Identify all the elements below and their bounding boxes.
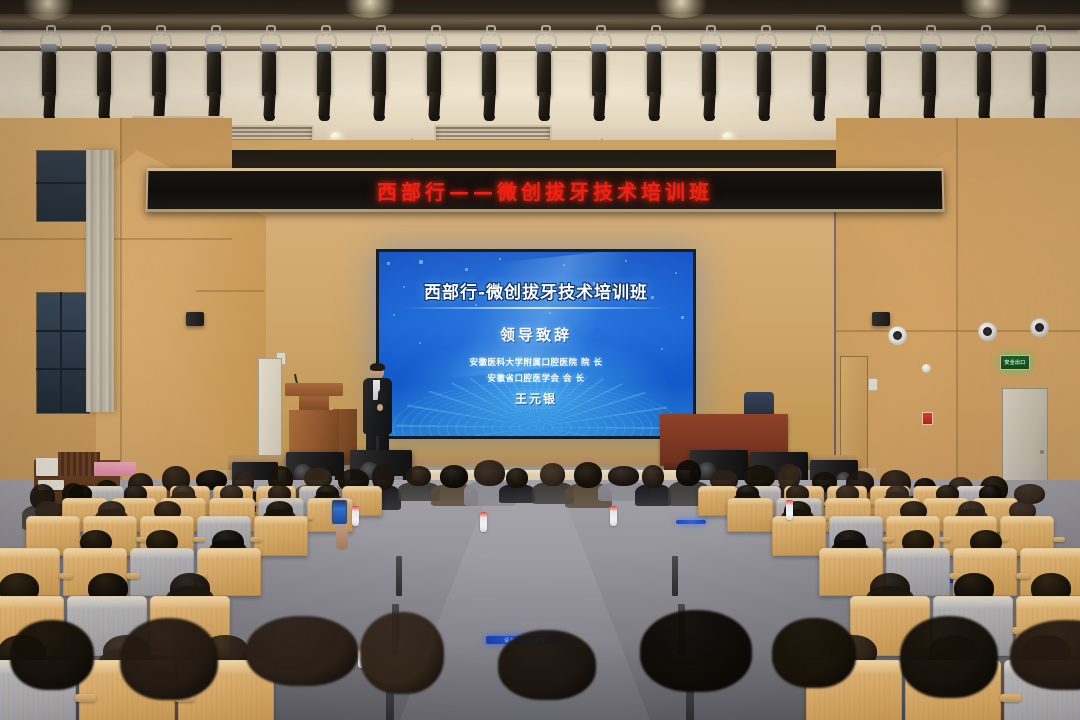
spotlight-body — [152, 52, 166, 96]
seat-armrest — [939, 537, 951, 542]
spotlight-body — [1032, 52, 1046, 96]
slide-particle — [499, 258, 501, 260]
seat-armrest — [882, 537, 894, 542]
water-bottle[interactable] — [352, 506, 359, 526]
slide-subtitle: 领导致辞 — [379, 324, 693, 345]
spotlight-snoot — [813, 92, 825, 118]
audience-member-head — [360, 612, 444, 694]
aisle-floor-marker — [676, 520, 706, 524]
seat-armrest — [75, 694, 96, 702]
audience-member-foreground — [120, 618, 218, 700]
slide-particle — [675, 272, 677, 274]
round-wall-speaker — [888, 326, 907, 345]
exit-sign-label: 安全出口 — [1004, 359, 1025, 366]
slide-particle — [563, 264, 565, 266]
podium-neck — [299, 396, 329, 410]
slide-particle — [625, 260, 627, 262]
audience-member — [540, 463, 565, 500]
raised-arm — [336, 520, 348, 550]
seat-grain — [776, 523, 821, 553]
spotlight-body — [647, 52, 661, 96]
door-handle[interactable] — [1040, 450, 1044, 454]
spotlight-snoot — [43, 92, 55, 118]
panel-seam — [956, 118, 958, 522]
audience-member-foreground — [10, 620, 94, 690]
audience-member-head — [474, 460, 505, 486]
audience-member-head — [772, 618, 856, 688]
spotlight-snoot — [153, 92, 165, 118]
spotlight-snoot — [428, 92, 440, 118]
spotlight-body — [757, 52, 771, 96]
ceiling-sensor — [922, 364, 931, 373]
auditorium-seat[interactable] — [254, 516, 308, 556]
slide-particle — [549, 312, 551, 314]
spotlight-body — [262, 52, 276, 96]
wall-switch-plate[interactable] — [868, 378, 878, 391]
seat-grain — [202, 557, 256, 593]
seat-armrest — [193, 537, 205, 542]
round-wall-speaker — [1030, 318, 1049, 337]
audience-member-head — [506, 468, 528, 488]
spotlight-snoot — [593, 92, 605, 118]
spotlight-snoot — [483, 92, 495, 118]
window-mullion — [36, 368, 88, 370]
audience-member — [406, 466, 431, 498]
spotlight-body — [867, 52, 881, 96]
audience-member-foreground — [246, 616, 358, 686]
spotlight-body — [317, 52, 331, 96]
auditorium-seat[interactable] — [772, 516, 826, 556]
audience-member-head — [440, 465, 468, 488]
seat-grain — [258, 523, 303, 553]
spotlight-body — [42, 52, 56, 96]
exit-sign: 安全出口 — [1000, 355, 1030, 370]
spotlight-body — [812, 52, 826, 96]
led-banner-text: 西部行——微创拔牙技术培训班 — [377, 176, 713, 205]
slide-swoosh — [379, 252, 693, 389]
spotlight-snoot — [1033, 92, 1045, 118]
slide-divider — [404, 307, 668, 309]
seat-armrest — [1000, 694, 1021, 702]
spotlight-snoot — [263, 92, 275, 118]
spotlight-body — [922, 52, 936, 96]
spotlight-snoot — [98, 92, 110, 118]
audience-member-head — [406, 466, 431, 486]
registration-materials — [36, 458, 58, 476]
slide-particle — [419, 260, 423, 264]
audience-member-foreground — [900, 616, 998, 698]
podium-top — [285, 383, 343, 396]
audience-member-head — [1010, 620, 1080, 690]
seat-armrest — [250, 537, 262, 542]
audience-member-foreground — [1010, 620, 1080, 690]
window — [36, 292, 90, 414]
slide-particle — [393, 314, 395, 316]
audience-member-head — [574, 462, 602, 488]
audience-member-head — [10, 620, 94, 690]
audience-member-foreground — [640, 610, 752, 692]
audience-member-head — [120, 618, 218, 700]
presenter-hand — [377, 404, 383, 411]
water-bottle[interactable] — [786, 500, 793, 520]
audience-member — [506, 468, 528, 500]
spotlight-body — [372, 52, 386, 96]
window-mullion — [60, 292, 62, 412]
presenter-hair — [370, 363, 385, 371]
slide-particle — [681, 316, 684, 319]
spotlight-snoot — [648, 92, 660, 118]
slide-affiliation-2: 安徽省口腔医学会 会 长 — [379, 372, 693, 384]
spotlight-body — [977, 52, 991, 96]
window-curtain — [86, 150, 114, 412]
audience-member-head — [498, 630, 596, 700]
spotlight-snoot — [868, 92, 880, 118]
audience-member-foreground — [360, 612, 444, 694]
audience-member-head — [900, 616, 998, 698]
spotlight-snoot — [703, 92, 715, 118]
slide-particle — [661, 348, 663, 350]
slide-affiliation-1: 安徽医科大学附属口腔医院 院 长 — [379, 356, 693, 368]
spotlight-snoot — [923, 92, 935, 118]
water-bottle[interactable] — [610, 506, 617, 526]
audience-member-head — [642, 465, 664, 488]
seat-support-post — [396, 556, 402, 596]
slide-speaker-name: 王元银 — [379, 390, 693, 407]
seat-armrest — [1016, 573, 1030, 579]
fire-alarm-icon — [922, 412, 933, 425]
panel-seam — [120, 118, 122, 518]
seat-armrest — [1053, 537, 1065, 542]
audience-member-foreground — [772, 618, 856, 688]
round-wall-speaker — [978, 322, 997, 341]
wall-speaker — [186, 312, 204, 326]
spotlight-body — [482, 52, 496, 96]
seat-armrest — [126, 573, 140, 579]
audience-member — [642, 465, 664, 502]
audience-member-head — [540, 463, 565, 486]
audience-member-head — [246, 616, 358, 686]
led-banner: 西部行——微创拔牙技术培训班 — [145, 168, 944, 212]
slide-particle — [465, 268, 468, 271]
spotlight-snoot — [538, 92, 550, 118]
seat-grain — [731, 504, 770, 530]
spotlight-body — [207, 52, 221, 96]
spotlight-body — [427, 52, 441, 96]
wall-speaker — [872, 312, 890, 326]
audience-member-head — [640, 610, 752, 692]
panel-seam — [0, 238, 232, 240]
spotlight-snoot — [758, 92, 770, 118]
spotlight-snoot — [318, 92, 330, 118]
window-mullion — [36, 182, 90, 184]
audience-member-head — [608, 466, 639, 486]
window-mullion — [36, 330, 88, 332]
spotlight-snoot — [978, 92, 990, 118]
spotlight-body — [592, 52, 606, 96]
panel-seam — [196, 290, 264, 292]
smartphone-recording[interactable] — [332, 500, 347, 524]
spotlight-snoot — [208, 92, 220, 118]
auditorium-photo: 安全出口 西部行——微创拔牙技术培训班 西部行-微创拔牙技术培训班 领导致辞 安… — [0, 0, 1080, 720]
slide-particle — [475, 304, 477, 306]
audience-member-foreground — [498, 630, 596, 700]
spotlight-snoot — [373, 92, 385, 118]
water-bottle[interactable] — [480, 512, 487, 532]
projection-screen-frame: 西部行-微创拔牙技术培训班 领导致辞 安徽医科大学附属口腔医院 院 长 安徽省口… — [376, 249, 696, 439]
slide-title: 西部行-微创拔牙技术培训班 — [379, 278, 693, 303]
spotlight-body — [702, 52, 716, 96]
slide-particle — [387, 262, 390, 265]
seat-support-post — [672, 556, 678, 596]
projection-screen: 西部行-微创拔牙技术培训班 领导致辞 安徽医科大学附属口腔医院 院 长 安徽省口… — [379, 252, 693, 436]
spotlight-body — [97, 52, 111, 96]
spotlight-body — [537, 52, 551, 96]
auditorium-seat[interactable] — [727, 498, 773, 532]
seat-armrest — [59, 573, 73, 579]
audience-member-head — [676, 460, 701, 486]
window — [36, 150, 92, 222]
